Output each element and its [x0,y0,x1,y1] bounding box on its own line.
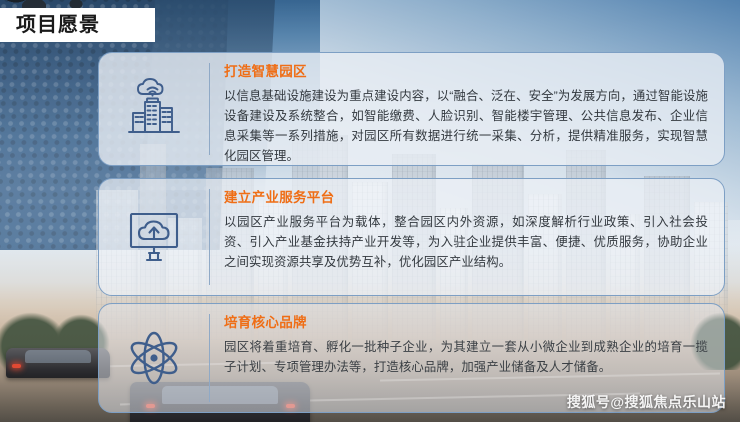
monitor-cloud-upload-icon [99,179,209,295]
card-heading: 培育核心品牌 [224,315,708,331]
page-title-text: 项目愿景 [16,15,100,35]
card-heading: 建立产业服务平台 [224,190,708,206]
page-title: 项目愿景 [0,8,155,42]
card-text: 园区将着重培育、孵化一批种子企业，为其建立一套从小微企业到成熟企业的培育一揽子计… [224,337,708,377]
card-heading: 打造智慧园区 [224,64,708,80]
card-body: 建立产业服务平台 以园区产业服务平台为载体，整合园区内外资源，如深度解析行业政策… [210,179,724,280]
atom-icon [99,304,209,412]
card-body: 打造智慧园区 以信息基础设施建设为重点建设内容，以“融合、泛在、安全”为发展方向… [210,53,724,166]
vision-card-smart-park: 打造智慧园区 以信息基础设施建设为重点建设内容，以“融合、泛在、安全”为发展方向… [98,52,725,166]
card-body: 培育核心品牌 园区将着重培育、孵化一批种子企业，为其建立一套从小微企业到成熟企业… [210,304,724,385]
slide-root: 项目愿景 打造智慧园区 以信息基础设施建设为重点建设内容，以“融合、泛在 [0,0,740,422]
watermark: 搜狐号@搜狐焦点乐山站 [567,392,726,412]
card-text: 以信息基础设施建设为重点建设内容，以“融合、泛在、安全”为发展方向，通过智能设施… [224,86,708,166]
vision-card-service-platform: 建立产业服务平台 以园区产业服务平台为载体，整合园区内外资源，如深度解析行业政策… [98,178,725,296]
smart-building-wifi-icon [99,53,209,165]
card-text: 以园区产业服务平台为载体，整合园区内外资源，如深度解析行业政策、引入社会投资、引… [224,212,708,272]
